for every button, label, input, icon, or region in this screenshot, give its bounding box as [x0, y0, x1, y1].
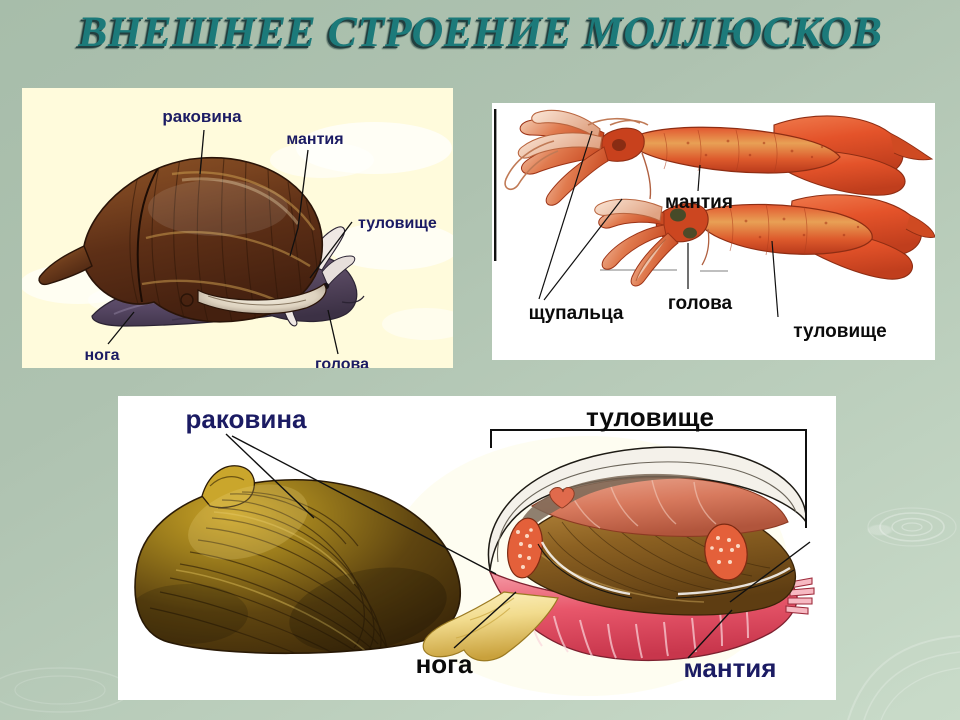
squid-label-shchupaltsa: щупальца: [529, 303, 624, 324]
bivalve-mollusk-diagram: раковина туловище нога мантия: [118, 396, 836, 700]
snail-illustration: раковина мантия туловище нога голова: [22, 88, 453, 368]
bivalve-whole-shell: [128, 466, 460, 700]
page-title: ВНЕШНЕЕ СТРОЕНИЕ МОЛЛЮСКОВ: [78, 8, 882, 57]
bivalve-label-rakovina: раковина: [185, 404, 307, 434]
slide-title-container: ВНЕШНЕЕ СТРОЕНИЕ МОЛЛЮСКОВ: [0, 8, 960, 57]
squid-lower: [595, 195, 935, 286]
snail-label-golova: голова: [315, 356, 369, 368]
snail-label-rakovina: раковина: [162, 107, 242, 126]
bivalve-label-tulovishche: туловище: [586, 402, 714, 432]
snail-label-tulovishche: туловище: [358, 215, 437, 232]
figure-left-rule: [494, 109, 496, 261]
snail-label-mantiya: мантия: [286, 131, 343, 148]
bivalve-label-mantiya: мантия: [684, 653, 777, 683]
squid-label-tulovishche: туловище: [793, 321, 886, 342]
cephalopod-squid-diagram: мантия щупальца голова туловище: [492, 103, 935, 360]
squid-illustration: мантия щупальца голова туловище: [492, 103, 935, 360]
squid-label-mantiya: мантия: [665, 192, 733, 213]
snail-label-noga: нога: [85, 347, 120, 364]
bivalve-label-noga: нога: [416, 649, 473, 679]
squid-label-golova: голова: [668, 293, 733, 314]
gastropod-snail-diagram: раковина мантия туловище нога голова: [22, 88, 453, 368]
bivalve-illustration: раковина туловище нога мантия: [118, 396, 836, 700]
